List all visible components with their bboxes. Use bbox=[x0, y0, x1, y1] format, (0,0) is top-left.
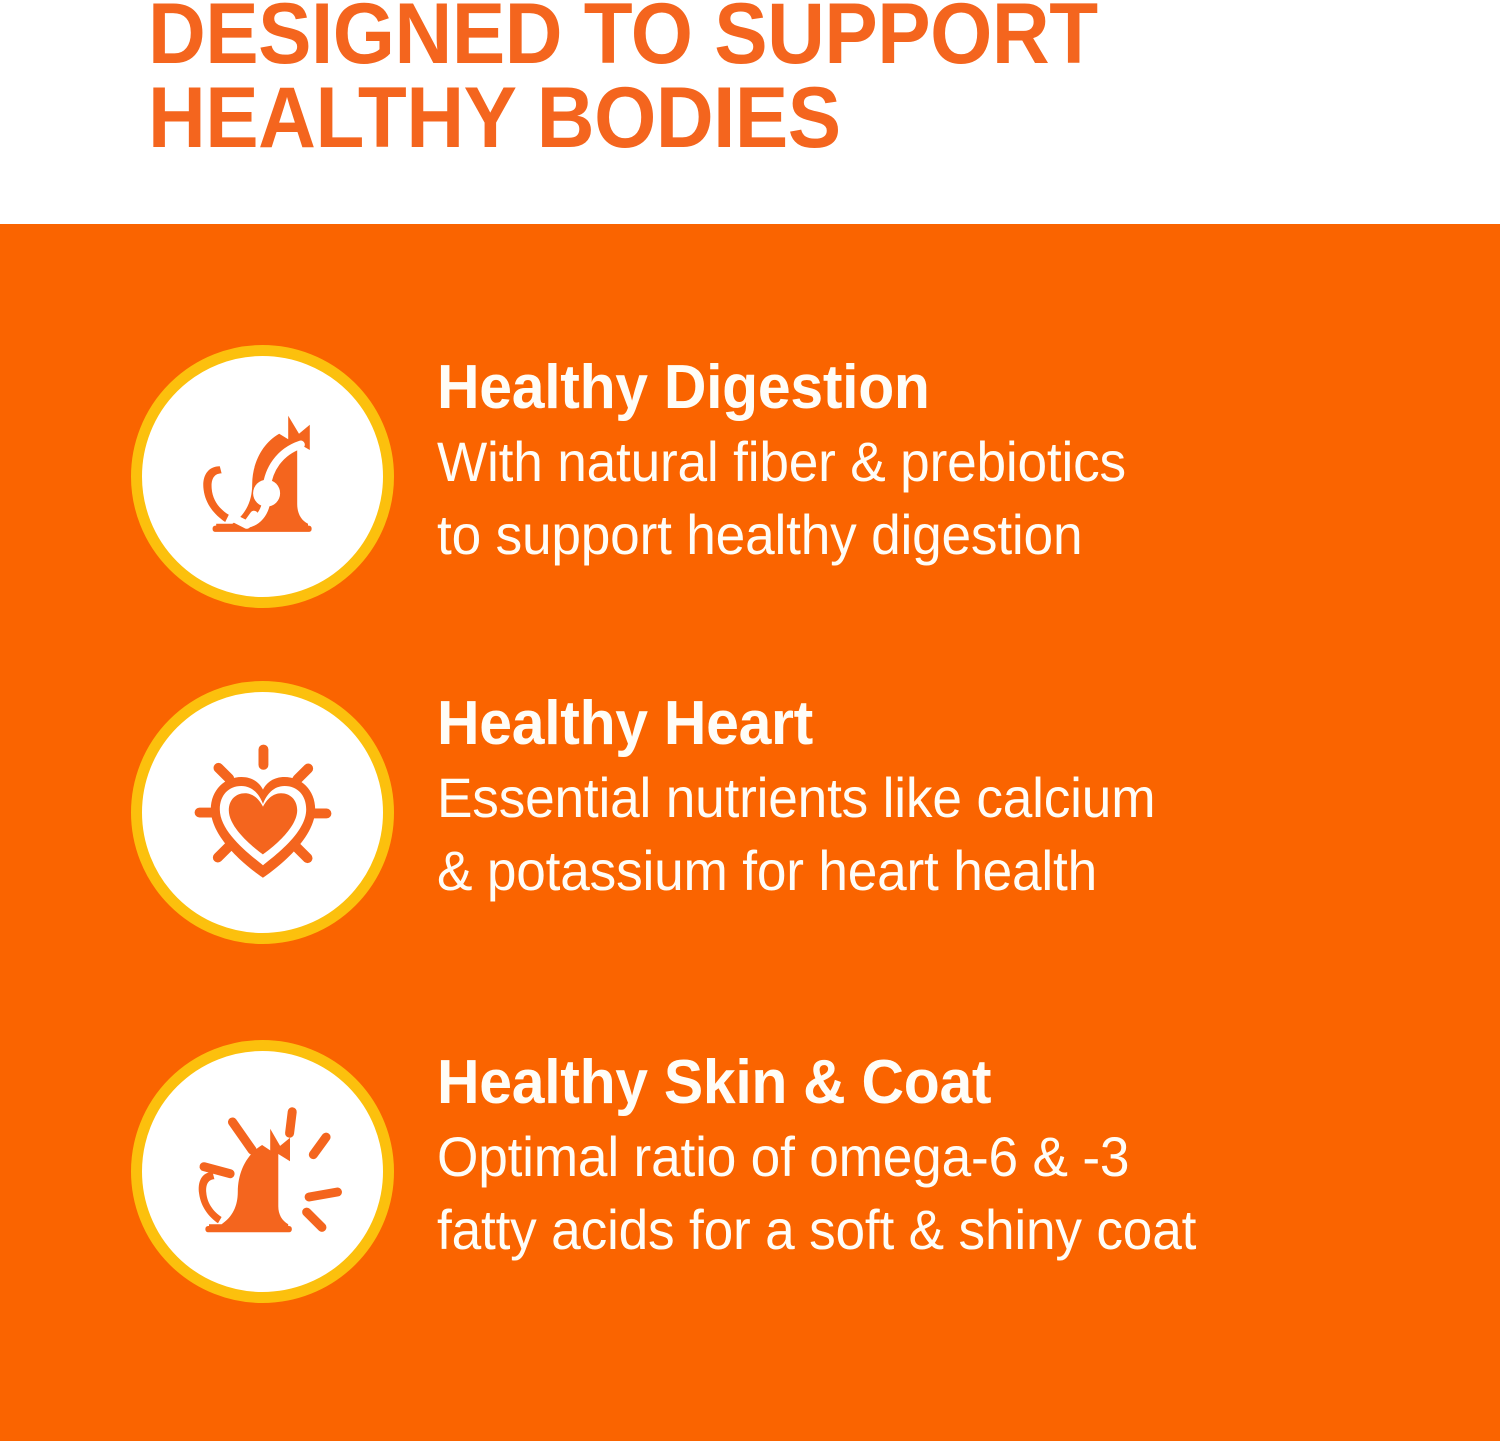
benefit-body: With natural fiber & prebiotics to suppo… bbox=[437, 425, 1397, 571]
benefit-heading: Healthy Skin & Coat bbox=[437, 1048, 1397, 1118]
benefit-copy-heart: Healthy Heart Essential nutrients like c… bbox=[437, 689, 1447, 907]
benefit-row-heart: Healthy Heart Essential nutrients like c… bbox=[0, 681, 1500, 943]
page-title: DESIGNED TO SUPPORT HEALTHY BODIES bbox=[148, 0, 1311, 160]
cat-digestion-icon bbox=[173, 387, 353, 567]
benefit-heading: Healthy Heart bbox=[437, 689, 1397, 759]
benefit-row-digestion: Healthy Digestion With natural fiber & p… bbox=[0, 345, 1500, 607]
badge-digestion bbox=[131, 345, 394, 608]
benefit-body: Optimal ratio of omega-6 & -3 fatty acid… bbox=[437, 1120, 1397, 1266]
header-band: DESIGNED TO SUPPORT HEALTHY BODIES bbox=[0, 0, 1500, 224]
benefits-panel: Healthy Digestion With natural fiber & p… bbox=[0, 224, 1500, 1441]
badge-skin-coat bbox=[131, 1040, 394, 1303]
benefit-heading: Healthy Digestion bbox=[437, 353, 1397, 423]
benefit-copy-digestion: Healthy Digestion With natural fiber & p… bbox=[437, 353, 1447, 571]
benefit-body: Essential nutrients like calcium & potas… bbox=[437, 761, 1397, 907]
promo-graphic: DESIGNED TO SUPPORT HEALTHY BODIES bbox=[0, 0, 1500, 1441]
benefit-row-skin-coat: Healthy Skin & Coat Optimal ratio of ome… bbox=[0, 1040, 1500, 1302]
badge-heart bbox=[131, 681, 394, 944]
shiny-cat-icon bbox=[173, 1082, 353, 1262]
radiant-heart-icon bbox=[173, 723, 353, 903]
benefit-copy-skin-coat: Healthy Skin & Coat Optimal ratio of ome… bbox=[437, 1048, 1447, 1266]
